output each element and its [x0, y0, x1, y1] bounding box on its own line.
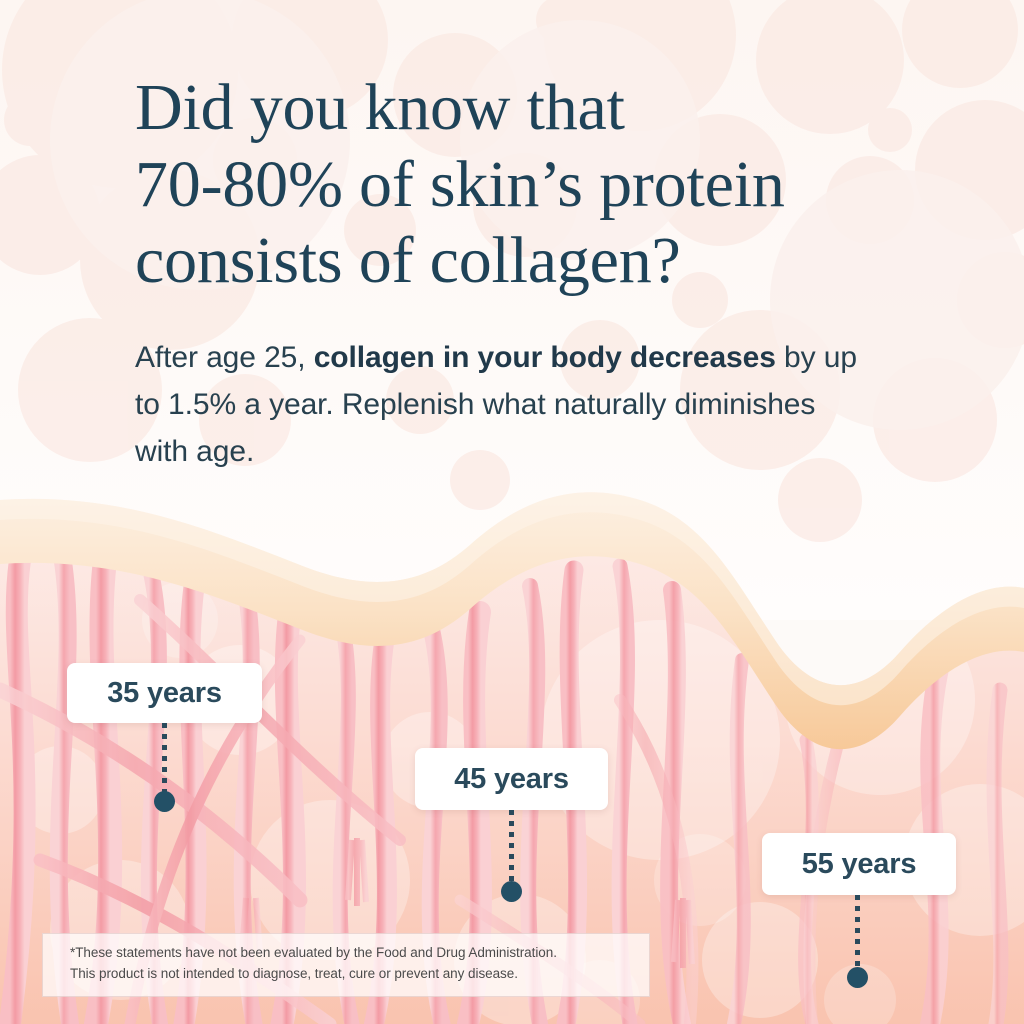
headline-line-2: 70-80% of skin’s protein: [135, 147, 925, 224]
callout-stem-45: [509, 810, 514, 883]
disclaimer-box: *These statements have not been evaluate…: [42, 933, 650, 997]
infographic-canvas: Did you know that 70-80% of skin’s prote…: [0, 0, 1024, 1024]
subcopy: After age 25, collagen in your body decr…: [135, 300, 875, 476]
callout-chip-45[interactable]: 45 years: [415, 748, 608, 810]
callout-chip-55[interactable]: 55 years: [762, 833, 956, 895]
subcopy-part-1: After age 25,: [135, 341, 314, 374]
text-block: Did you know that 70-80% of skin’s prote…: [135, 70, 925, 476]
callout-chip-35[interactable]: 35 years: [67, 663, 262, 723]
callout-dot-45: [501, 881, 522, 902]
disclaimer-line-1: *These statements have not been evaluate…: [70, 943, 649, 964]
callout-dot-55: [847, 967, 868, 988]
subcopy-emphasis: collagen in your body decreases: [314, 341, 776, 374]
headline-line-3: consists of collagen?: [135, 223, 925, 300]
headline-line-1: Did you know that: [135, 70, 925, 147]
callout-stem-55: [855, 895, 860, 969]
disclaimer-line-2: This product is not intended to diagnose…: [70, 964, 649, 985]
page-title: Did you know that 70-80% of skin’s prote…: [135, 70, 925, 300]
callout-stem-35: [162, 723, 167, 793]
callout-dot-35: [154, 791, 175, 812]
